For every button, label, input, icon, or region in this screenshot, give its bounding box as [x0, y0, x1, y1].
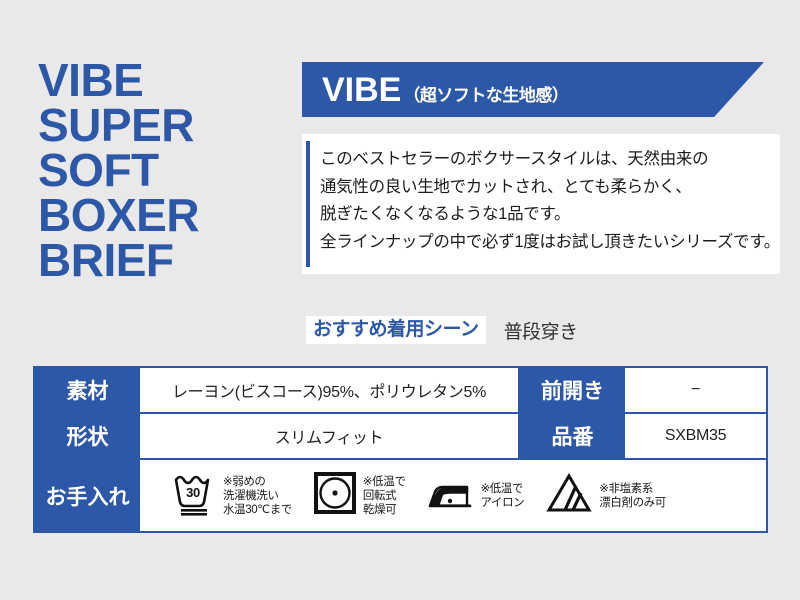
care-wash-line-3: 水温30℃まで — [223, 503, 292, 517]
table-row: 素材 レーヨン(ビスコース)95%、ポリウレタン5% 前開き − — [35, 368, 766, 414]
spec-label-fly: 前開き — [520, 368, 625, 412]
description-card: このベストセラーのボクサースタイルは、天然由来の 通気性の良い生地でカットされ、… — [302, 134, 780, 274]
page-title-line-3: SOFT — [38, 148, 288, 193]
spec-label-care: お手入れ — [35, 460, 140, 531]
care-iron-line-2: アイロン — [480, 496, 524, 510]
spec-label-model-number: 品番 — [520, 414, 625, 458]
care-dry-line-3: 乾燥可 — [363, 503, 406, 517]
care-bleach-line-1: ※非塩素系 — [599, 482, 666, 496]
description-line-4: 全ラインナップの中で必ず1度はお試し頂きたいシリーズです。 — [320, 229, 772, 257]
recommended-scene-label: おすすめ着用シーン — [306, 316, 486, 345]
care-bleach-line-2: 漂白剤のみ可 — [599, 496, 666, 510]
table-row: お手入れ 30 ※弱め — [35, 460, 766, 531]
care-dry-line-2: 回転式 — [363, 489, 406, 503]
description-text: このベストセラーのボクサースタイルは、天然由来の 通気性の良い生地でカットされ、… — [320, 146, 772, 256]
spec-label-material: 素材 — [35, 368, 140, 412]
page-title: VIBE SUPER SOFT BOXER BRIEF — [38, 58, 288, 283]
care-wash-line-2: 洗濯機洗い — [223, 489, 292, 503]
spec-value-care: 30 ※弱めの 洗濯機洗い 水温30℃まで — [140, 460, 766, 531]
care-instruction-bleach: ※非塩素系 漂白剤のみ可 — [546, 473, 666, 518]
iron-low-icon — [427, 476, 473, 515]
page-title-line-1: VIBE — [38, 58, 288, 103]
series-banner-subtitle: （超ソフトな生地感） — [403, 81, 568, 106]
description-line-3: 脱ぎたくなくなるような1品です。 — [320, 201, 772, 229]
care-iron-line-1: ※低温で — [480, 482, 524, 496]
care-instruction-tumble-dry: ※低温で 回転式 乾燥可 — [314, 472, 406, 519]
care-dry-line-1: ※低温で — [363, 475, 406, 489]
care-instruction-bleach-text: ※非塩素系 漂白剤のみ可 — [599, 482, 666, 510]
wash-tub-30-icon: 30 — [172, 470, 216, 521]
svg-text:30: 30 — [186, 485, 200, 500]
spec-label-shape: 形状 — [35, 414, 140, 458]
page-title-line-4: BOXER — [38, 193, 288, 238]
care-wash-line-1: ※弱めの — [223, 475, 292, 489]
spec-value-shape: スリムフィット — [140, 414, 520, 458]
series-banner-title: VIBE — [322, 73, 401, 107]
care-instruction-iron-text: ※低温で アイロン — [480, 482, 524, 510]
spec-value-fly: − — [625, 368, 766, 412]
spec-value-model-number: SXBM35 — [625, 414, 766, 458]
page-title-line-2: SUPER — [38, 103, 288, 148]
care-instruction-iron: ※低温で アイロン — [427, 476, 524, 515]
description-line-1: このベストセラーのボクサースタイルは、天然由来の — [320, 146, 772, 174]
description-accent-bar — [306, 141, 310, 267]
tumble-dry-icon — [314, 472, 356, 519]
recommended-scene-value: 普段穿き — [504, 317, 578, 344]
series-banner: VIBE （超ソフトな生地感） — [302, 62, 764, 117]
table-row: 形状 スリムフィット 品番 SXBM35 — [35, 414, 766, 460]
care-instruction-tumble-dry-text: ※低温で 回転式 乾燥可 — [363, 475, 406, 517]
page-title-line-5: BRIEF — [38, 238, 288, 283]
care-instruction-wash: 30 ※弱めの 洗濯機洗い 水温30℃まで — [172, 470, 292, 521]
description-line-2: 通気性の良い生地でカットされ、とても柔らかく、 — [320, 174, 772, 202]
recommended-scene-row: おすすめ着用シーン 普段穿き — [306, 315, 578, 345]
non-chlorine-bleach-icon — [546, 473, 592, 518]
product-info-graphic: VIBE SUPER SOFT BOXER BRIEF VIBE （超ソフトな生… — [0, 0, 800, 600]
care-instruction-wash-text: ※弱めの 洗濯機洗い 水温30℃まで — [223, 475, 292, 517]
spec-table: 素材 レーヨン(ビスコース)95%、ポリウレタン5% 前開き − 形状 スリムフ… — [33, 366, 768, 533]
spec-value-material: レーヨン(ビスコース)95%、ポリウレタン5% — [140, 368, 520, 412]
